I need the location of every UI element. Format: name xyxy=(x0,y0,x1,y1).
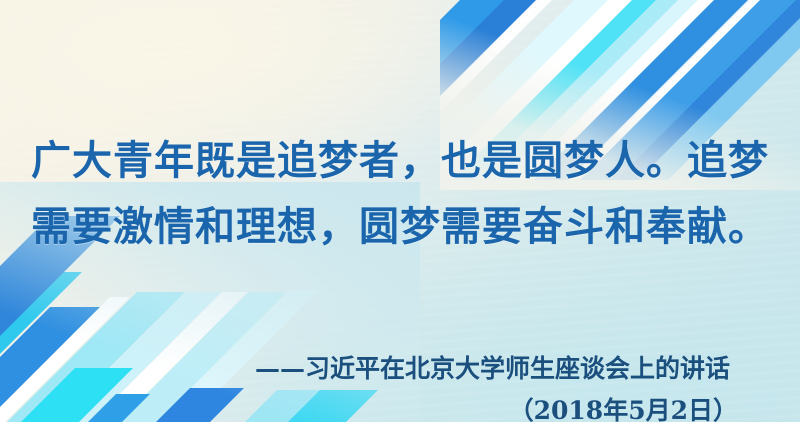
quote-line-1: 广大青年既是追梦者，也是圆梦人。追梦 xyxy=(0,128,800,194)
attribution-date: （2018年5月2日） xyxy=(255,392,738,430)
quote-line-2: 需要激情和理想，圆梦需要奋斗和奉献。 xyxy=(0,194,800,260)
attribution: ——习近平在北京大学师生座谈会上的讲话 （2018年5月2日） xyxy=(255,350,730,430)
quote-text: 广大青年既是追梦者，也是圆梦人。追梦 需要激情和理想，圆梦需要奋斗和奉献。 xyxy=(0,128,800,260)
attribution-source: ——习近平在北京大学师生座谈会上的讲话 xyxy=(255,354,730,383)
quote-banner: 广大青年既是追梦者，也是圆梦人。追梦 需要激情和理想，圆梦需要奋斗和奉献。 ——… xyxy=(0,0,800,438)
